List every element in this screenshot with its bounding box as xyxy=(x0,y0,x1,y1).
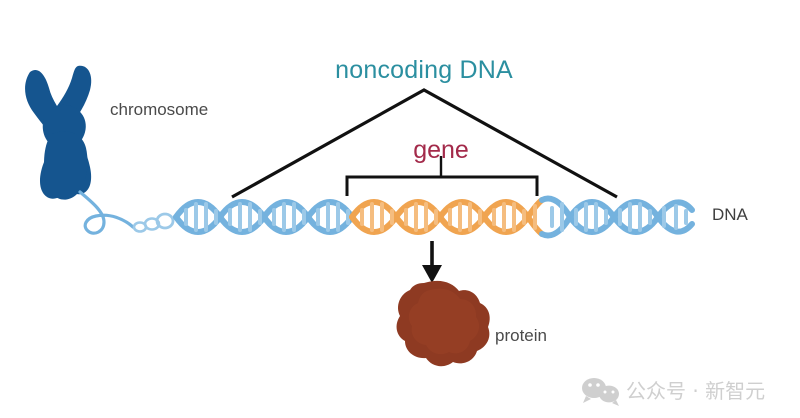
dna-label: DNA xyxy=(712,205,749,224)
chromosome-label: chromosome xyxy=(110,100,208,119)
protein-label: protein xyxy=(495,326,547,345)
biology-diagram: noncoding DNA gene chromosome DNA protei… xyxy=(0,0,800,418)
diagram-canvas: noncoding DNA gene chromosome DNA protei… xyxy=(0,0,800,418)
noncoding-dna-label: noncoding DNA xyxy=(335,56,513,84)
watermark-text: 公众号 · 新智元 xyxy=(626,379,765,403)
gene-label: gene xyxy=(413,136,469,164)
